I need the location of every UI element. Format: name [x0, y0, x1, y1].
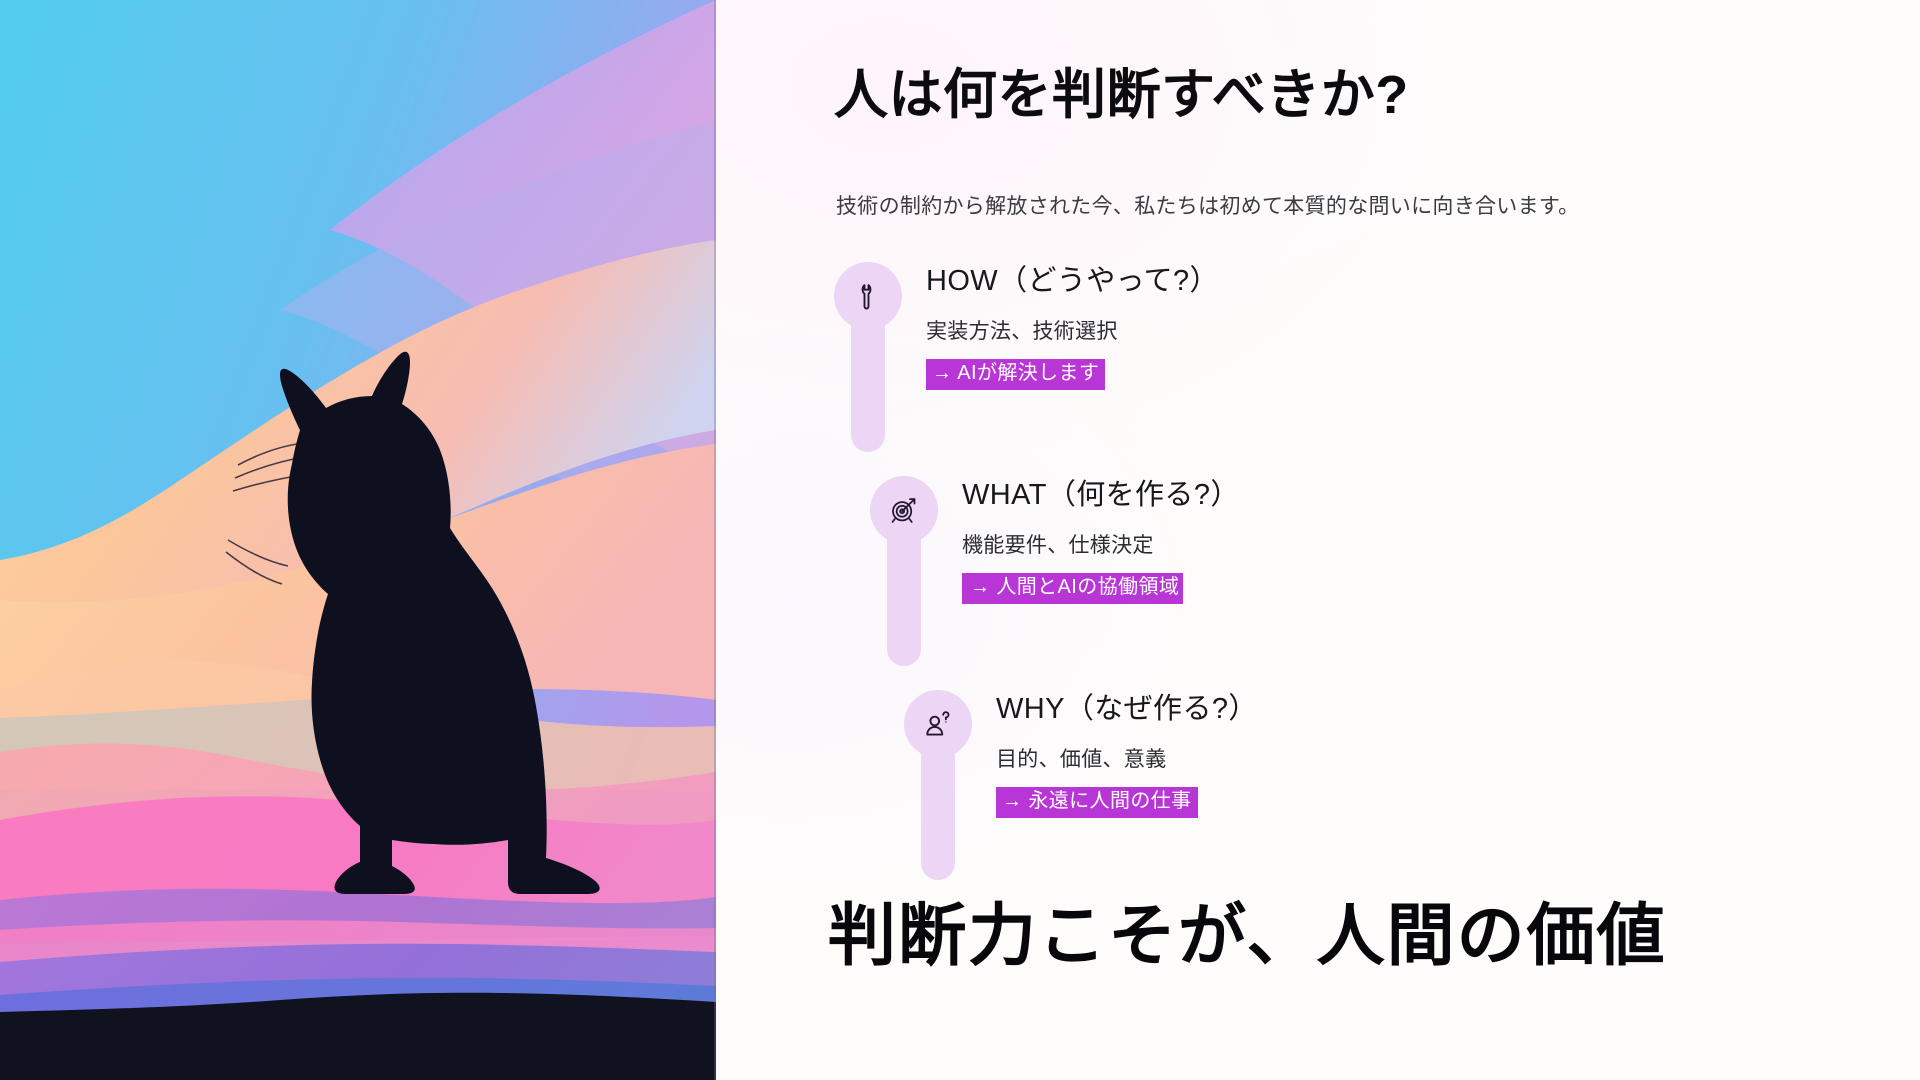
what-title: WHAT（何を作る?）: [962, 477, 1240, 513]
why-title: WHY（なぜ作る?）: [996, 691, 1258, 727]
what-detail: 機能要件、仕様決定: [962, 529, 1240, 559]
closing-statement: 判断力こそが、人間の価値: [828, 880, 1667, 979]
question-block-what: WHAT（何を作る?） 機能要件、仕様決定 → 人間とAIの協働領域: [716, 476, 1920, 666]
what-verdict-row: → 人間とAIの協働領域: [962, 573, 1240, 604]
what-icon-marker: [870, 476, 938, 666]
content-panel: 人は何を判断すべきか? 技術の制約から解放された今、私たちは初めて本質的な問いに…: [716, 0, 1920, 1080]
how-verdict-row: → AIが解決します: [926, 359, 1219, 390]
what-body: WHAT（何を作る?） 機能要件、仕様決定 → 人間とAIの協働領域: [938, 476, 1240, 604]
slide-root: 人は何を判断すべきか? 技術の制約から解放された今、私たちは初めて本質的な問いに…: [0, 0, 1920, 1080]
question-block-how: HOW（どうやって?） 実装方法、技術選択 → AIが解決します: [716, 262, 1920, 452]
target-icon: [889, 495, 919, 525]
question-block-why: WHY（なぜ作る?） 目的、価値、意義 → 永遠に人間の仕事: [716, 690, 1920, 880]
how-verdict: → AIが解決します: [926, 359, 1105, 390]
why-verdict: → 永遠に人間の仕事: [996, 787, 1198, 818]
why-icon-marker: [904, 690, 972, 880]
illustration-panel: [0, 0, 716, 1080]
how-icon-marker: [834, 262, 902, 452]
how-icon-badge: [834, 262, 902, 330]
how-body: HOW（どうやって?） 実装方法、技術選択 → AIが解決します: [902, 262, 1219, 390]
what-verdict: → 人間とAIの協働領域: [962, 573, 1183, 604]
how-title: HOW（どうやって?）: [926, 263, 1219, 299]
page-title: 人は何を判断すべきか?: [834, 64, 1409, 126]
why-icon-badge: [904, 690, 972, 758]
why-detail: 目的、価値、意義: [996, 743, 1258, 773]
page-subtitle: 技術の制約から解放された今、私たちは初めて本質的な問いに向き合います。: [836, 190, 1579, 220]
why-body: WHY（なぜ作る?） 目的、価値、意義 → 永遠に人間の仕事: [972, 690, 1258, 818]
why-verdict-row: → 永遠に人間の仕事: [996, 787, 1258, 818]
question-blocks: HOW（どうやって?） 実装方法、技術選択 → AIが解決します: [716, 262, 1920, 904]
cat-sunset-illustration: [0, 0, 716, 1080]
how-detail: 実装方法、技術選択: [926, 315, 1219, 345]
person-question-icon: [923, 709, 953, 739]
what-icon-badge: [870, 476, 938, 544]
wrench-icon: [853, 281, 883, 311]
